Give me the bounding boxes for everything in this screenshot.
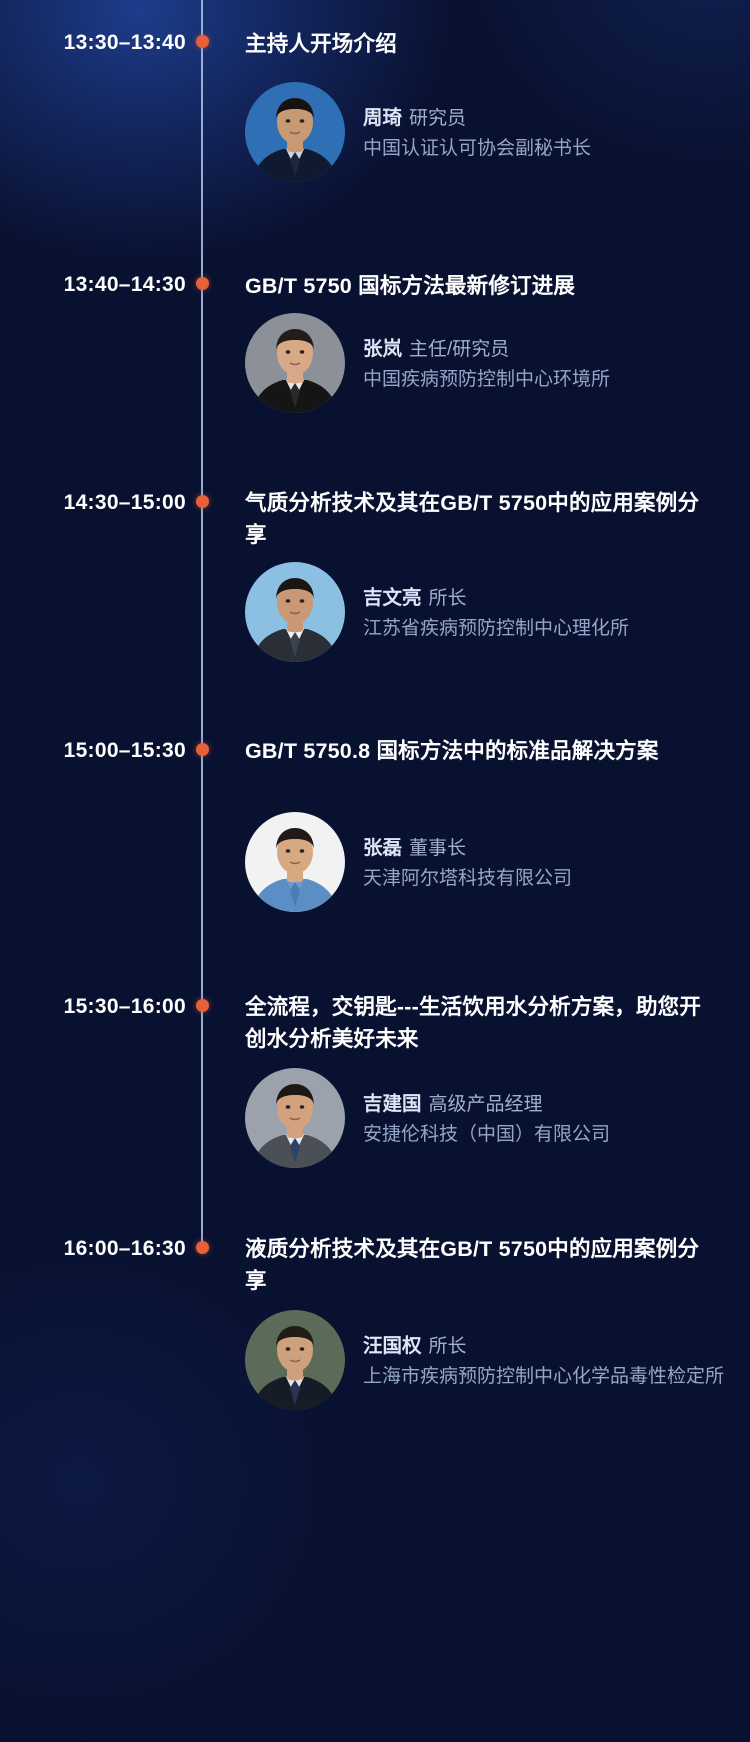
speaker-text: 吉文亮所长江苏省疾病预防控制中心理化所 <box>363 584 750 644</box>
session-title: 全流程，交钥匙---生活饮用水分析方案，助您开创水分析美好未来 <box>245 991 710 1055</box>
speaker-avatar <box>245 812 345 912</box>
session-title: 主持人开场介绍 <box>245 28 710 60</box>
timeline-dot-icon <box>196 743 209 756</box>
speaker-organization: 江苏省疾病预防控制中心理化所 <box>363 614 750 644</box>
speaker-name-role: 周琦研究员 <box>363 104 750 134</box>
speaker-organization: 中国认证认可协会副秘书长 <box>363 134 750 164</box>
timeline-dot-icon <box>196 999 209 1012</box>
timeline-dot-icon <box>196 277 209 290</box>
speaker-text: 汪国权所长上海市疾病预防控制中心化学品毒性检定所 <box>363 1332 750 1392</box>
speaker-name-role: 吉建国高级产品经理 <box>363 1090 750 1120</box>
session-time: 14:30–15:00 <box>0 491 186 515</box>
timeline-dot-icon <box>196 1241 209 1254</box>
session-speaker: 张岚主任/研究员中国疾病预防控制中心环境所 <box>245 313 705 413</box>
session-speaker: 周琦研究员中国认证认可协会副秘书长 <box>245 82 705 182</box>
speaker-name: 周琦 <box>363 107 402 129</box>
session-time: 13:30–13:40 <box>0 31 186 55</box>
speaker-text: 张磊董事长天津阿尔塔科技有限公司 <box>363 834 750 894</box>
speaker-avatar <box>245 82 345 182</box>
speaker-organization: 安捷伦科技（中国）有限公司 <box>363 1120 750 1150</box>
speaker-name: 吉文亮 <box>363 587 422 609</box>
speaker-name-role: 张磊董事长 <box>363 834 750 864</box>
session-title: 气质分析技术及其在GB/T 5750中的应用案例分享 <box>245 487 710 551</box>
speaker-organization: 天津阿尔塔科技有限公司 <box>363 864 750 894</box>
timeline-dot-icon <box>196 35 209 48</box>
session-time: 13:40–14:30 <box>0 273 186 297</box>
speaker-name-role: 吉文亮所长 <box>363 584 750 614</box>
speaker-role: 高级产品经理 <box>422 1094 543 1115</box>
session-title: GB/T 5750.8 国标方法中的标准品解决方案 <box>245 735 710 767</box>
speaker-organization: 中国疾病预防控制中心环境所 <box>363 365 750 395</box>
speaker-organization: 上海市疾病预防控制中心化学品毒性检定所 <box>363 1362 750 1392</box>
speaker-text: 张岚主任/研究员中国疾病预防控制中心环境所 <box>363 335 750 395</box>
timeline-rail <box>201 0 203 1247</box>
speaker-role: 研究员 <box>402 108 466 129</box>
session-speaker: 吉建国高级产品经理安捷伦科技（中国）有限公司 <box>245 1068 705 1168</box>
speaker-avatar <box>245 1310 345 1410</box>
session-time: 15:00–15:30 <box>0 739 186 763</box>
speaker-name: 吉建国 <box>363 1093 422 1115</box>
session-time: 15:30–16:00 <box>0 995 186 1019</box>
speaker-name: 张岚 <box>363 338 402 360</box>
agenda-timeline: 13:30–13:40主持人开场介绍周琦研究员中国认证认可协会副秘书长13:40… <box>0 0 750 1462</box>
speaker-text: 周琦研究员中国认证认可协会副秘书长 <box>363 104 750 164</box>
session-title: GB/T 5750 国标方法最新修订进展 <box>245 270 710 302</box>
speaker-name: 汪国权 <box>363 1335 422 1357</box>
speaker-role: 所长 <box>422 588 467 609</box>
speaker-name: 张磊 <box>363 837 402 859</box>
speaker-name-role: 汪国权所长 <box>363 1332 750 1362</box>
speaker-name-role: 张岚主任/研究员 <box>363 335 750 365</box>
speaker-avatar <box>245 562 345 662</box>
session-title: 液质分析技术及其在GB/T 5750中的应用案例分享 <box>245 1233 710 1297</box>
speaker-text: 吉建国高级产品经理安捷伦科技（中国）有限公司 <box>363 1090 750 1150</box>
speaker-role: 董事长 <box>402 838 466 859</box>
speaker-avatar <box>245 1068 345 1168</box>
speaker-role: 所长 <box>422 1336 467 1357</box>
speaker-role: 主任/研究员 <box>402 339 509 360</box>
timeline-dot-icon <box>196 495 209 508</box>
session-time: 16:00–16:30 <box>0 1237 186 1261</box>
session-speaker: 汪国权所长上海市疾病预防控制中心化学品毒性检定所 <box>245 1310 705 1410</box>
session-speaker: 吉文亮所长江苏省疾病预防控制中心理化所 <box>245 562 705 662</box>
speaker-avatar <box>245 313 345 413</box>
session-speaker: 张磊董事长天津阿尔塔科技有限公司 <box>245 812 705 912</box>
